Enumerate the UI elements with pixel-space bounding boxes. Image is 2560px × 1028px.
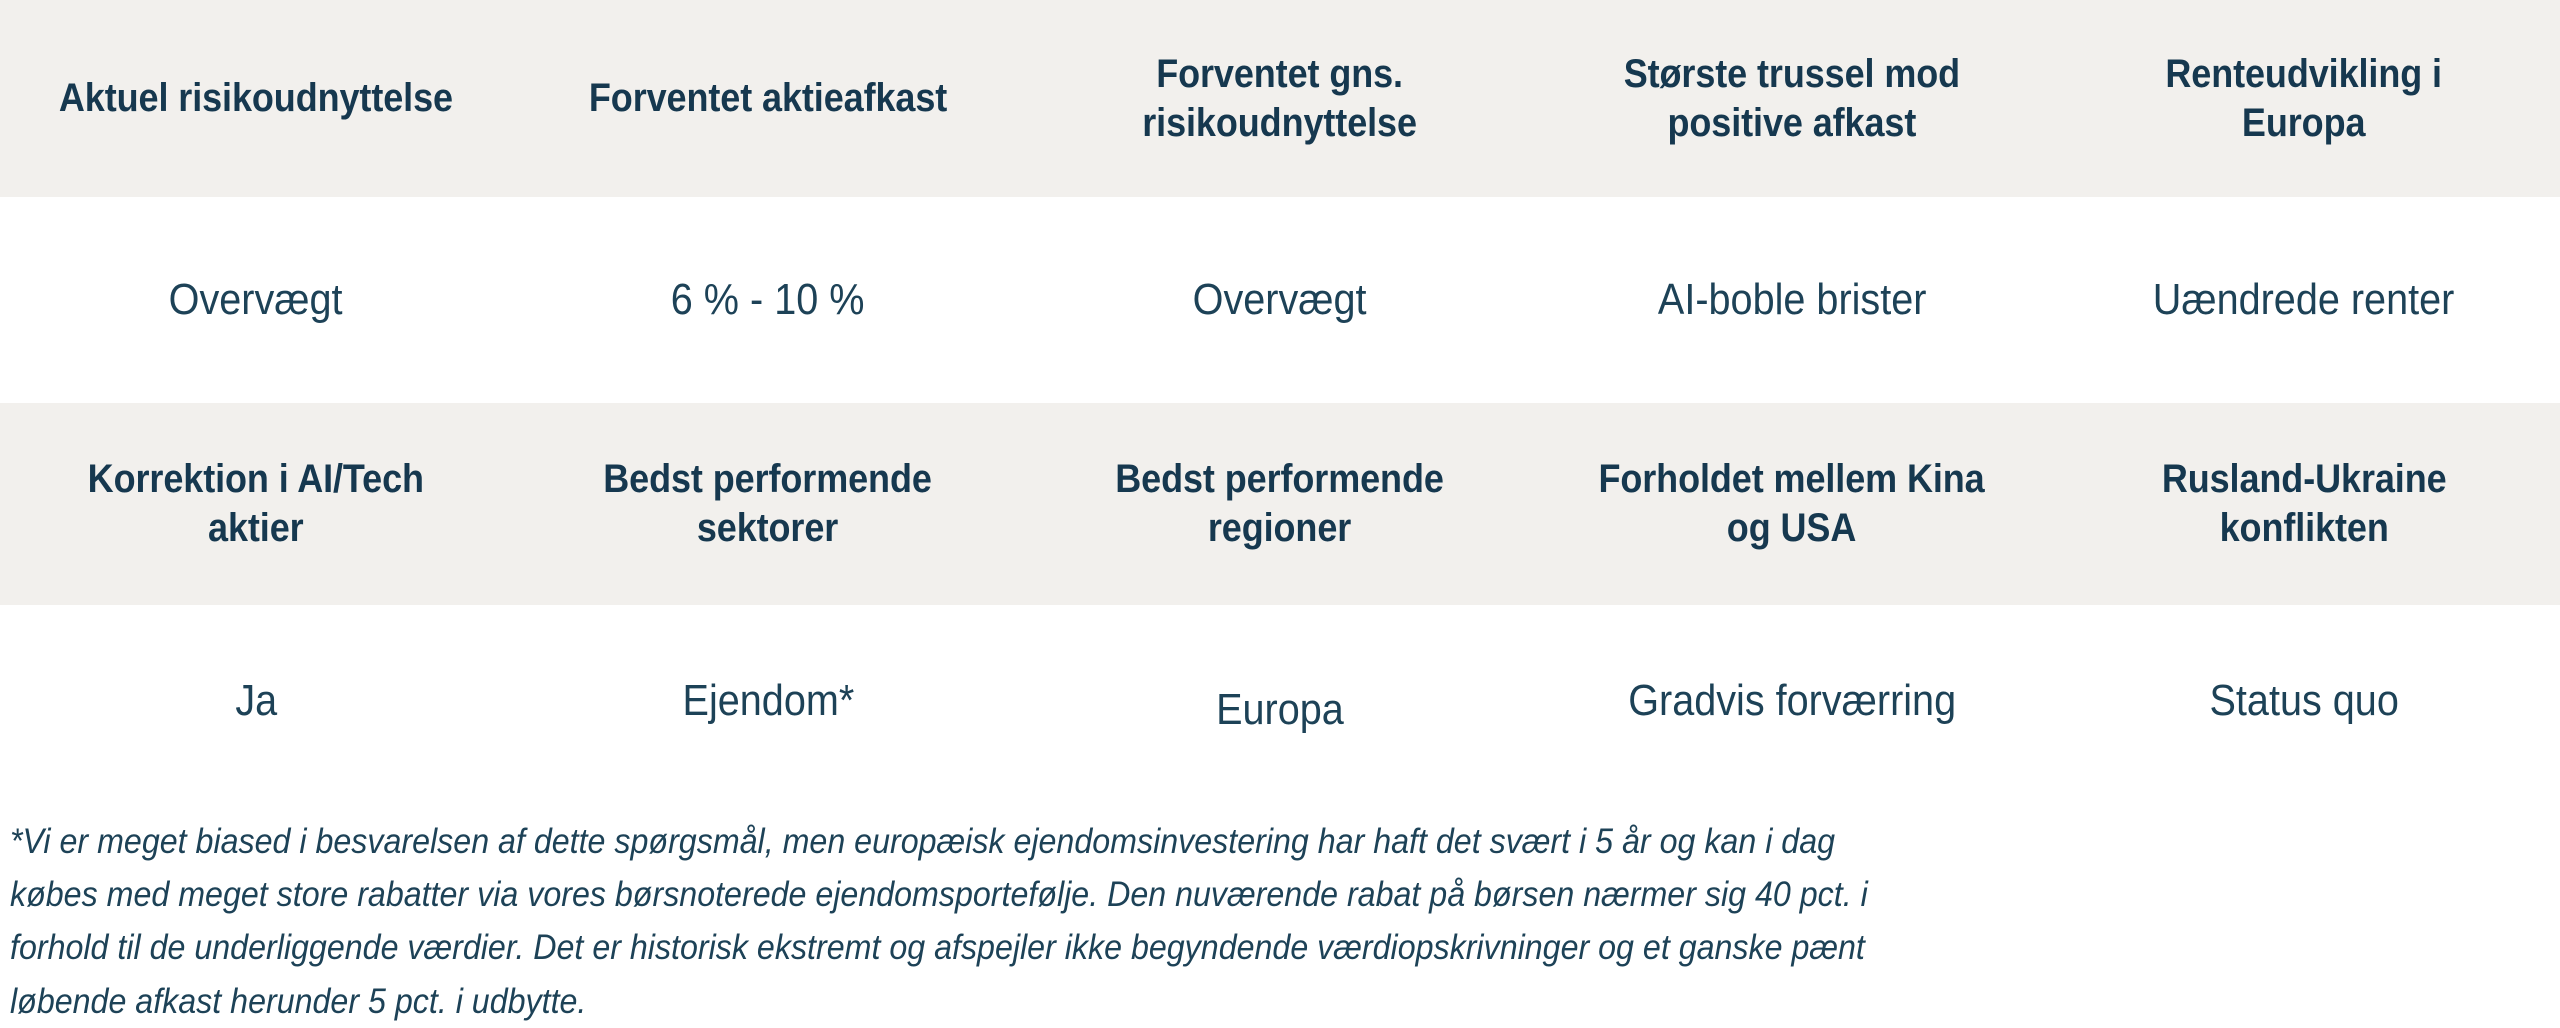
value-row-2: Ja Ejendom* Europa Gradvis forværring St… [0, 605, 2560, 797]
value-cell-bedst-performende-sektorer: Ejendom* [512, 675, 1024, 728]
value-label: AI-boble brister [1658, 274, 1927, 327]
header-label: Forholdet mellem Kina og USA [1599, 455, 1985, 553]
value-label: Ja [235, 675, 277, 728]
header-label: Bedst performende sektorer [604, 455, 933, 553]
header-cell-forventet-gns-risikoudnyttelse: Forventet gns. risikoudnyttelse [1024, 50, 1536, 148]
header-cell-storste-trussel-mod-positive-afkast: Største trussel mod positive afkast [1536, 50, 2048, 148]
header-cell-forholdet-mellem-kina-og-usa: Forholdet mellem Kina og USA [1536, 455, 2048, 553]
header-cell-bedst-performende-regioner: Bedst performende regioner [1024, 455, 1536, 553]
value-label: Status quo [2209, 675, 2398, 728]
header-cell-forventet-aktieafkast: Forventet aktieafkast [512, 74, 1024, 123]
value-label: Gradvis forværring [1628, 675, 1956, 728]
value-cell-aktuel-risikoudnyttelse: Overvægt [0, 274, 512, 327]
summary-table: Aktuel risikoudnyttelse Forventet aktiea… [0, 0, 2560, 1018]
value-label: Uændrede renter [2153, 274, 2455, 327]
footnote: *Vi er meget biased i besvarelsen af det… [10, 815, 2040, 1028]
header-cell-rusland-ukraine-konflikten: Rusland-Ukraine konflikten [2048, 455, 2560, 553]
header-label: Korrektion i AI/Tech aktier [88, 455, 424, 553]
value-cell-forholdet-mellem-kina-og-usa: Gradvis forværring [1536, 675, 2048, 728]
header-cell-aktuel-risikoudnyttelse: Aktuel risikoudnyttelse [0, 74, 512, 123]
value-row-1: Overvægt 6 % - 10 % Overvægt AI-boble br… [0, 197, 2560, 403]
header-label: Bedst performende regioner [1116, 455, 1445, 553]
value-cell-bedst-performende-regioner: Europa [1024, 675, 1536, 728]
header-cell-renteudvikling-i-europa: Renteudvikling i Europa [2048, 50, 2560, 148]
header-label: Rusland-Ukraine konflikten [2162, 455, 2447, 553]
value-cell-forventet-aktieafkast: 6 % - 10 % [512, 274, 1024, 327]
header-label: Forventet aktieafkast [589, 74, 947, 123]
value-label: Overvægt [169, 274, 343, 327]
value-label: Overvægt [1193, 274, 1367, 327]
value-cell-forventet-gns-risikoudnyttelse: Overvægt [1024, 274, 1536, 327]
value-label: Ejendom* [682, 675, 854, 728]
value-cell-korrektion-i-ai-tech-aktier: Ja [0, 675, 512, 728]
value-label: Europa [1216, 684, 1344, 737]
header-row-2: Korrektion i AI/Tech aktier Bedst perfor… [0, 403, 2560, 605]
header-label: Renteudvikling i Europa [2166, 50, 2443, 148]
header-cell-korrektion-i-ai-tech-aktier: Korrektion i AI/Tech aktier [0, 455, 512, 553]
value-cell-storste-trussel-mod-positive-afkast: AI-boble brister [1536, 274, 2048, 327]
footnote-text: *Vi er meget biased i besvarelsen af det… [10, 815, 1878, 1028]
header-cell-bedst-performende-sektorer: Bedst performende sektorer [512, 455, 1024, 553]
value-label: 6 % - 10 % [671, 274, 865, 327]
value-cell-rusland-ukraine-konflikten: Status quo [2048, 675, 2560, 728]
header-label: Forventet gns. risikoudnyttelse [1143, 50, 1418, 148]
header-label: Aktuel risikoudnyttelse [59, 74, 453, 123]
header-label: Største trussel mod positive afkast [1624, 50, 1960, 148]
header-row-1: Aktuel risikoudnyttelse Forventet aktiea… [0, 0, 2560, 197]
value-cell-renteudvikling-i-europa: Uændrede renter [2048, 274, 2560, 327]
